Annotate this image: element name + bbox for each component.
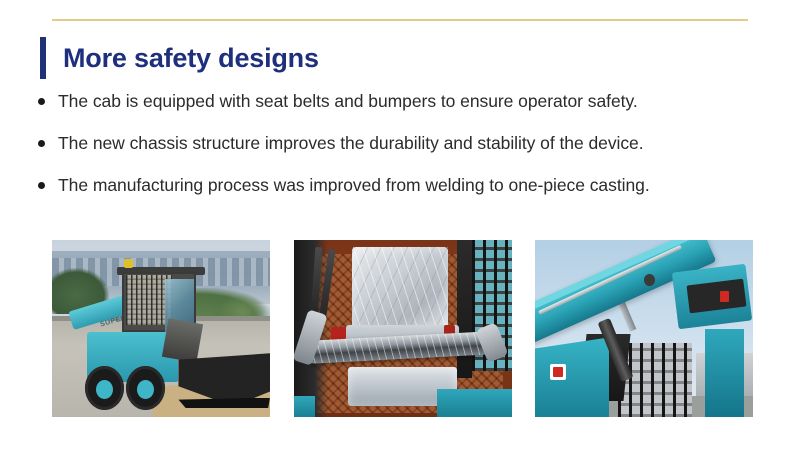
- bullet-text: The new chassis structure improves the d…: [58, 130, 644, 156]
- list-item: The manufacturing process was improved f…: [38, 172, 790, 214]
- bullet-text: The cab is equipped with seat belts and …: [58, 88, 638, 114]
- teal-panel-bottom-right: [437, 389, 511, 417]
- bullet-dot-icon: [38, 98, 45, 105]
- seat-plastic-wrap: [352, 247, 448, 332]
- boom-mount-plate: [535, 337, 609, 417]
- hydraulic-lift-assembly: [162, 319, 203, 363]
- photo-skid-steer-loader-full-view: SUPER: [52, 240, 270, 417]
- slide-canvas: More safety designs The cab is equipped …: [0, 0, 800, 450]
- warning-beacon-icon: [124, 259, 133, 268]
- bullet-dot-icon: [38, 140, 45, 147]
- photo-cab-interior-wrapped-seat: [294, 240, 512, 417]
- bullet-text: The manufacturing process was improved f…: [58, 172, 650, 198]
- warning-sticker-secondary-icon: [720, 291, 729, 302]
- boom-pivot-joint: [644, 274, 655, 286]
- photo-loader-boom-arm-closeup: [535, 240, 753, 417]
- list-item: The new chassis structure improves the d…: [38, 130, 790, 172]
- photo-gallery: SUPER: [52, 240, 753, 417]
- machine-body-right: [705, 329, 744, 418]
- rear-mesh-grille: [618, 343, 692, 417]
- gold-divider-rule: [52, 19, 748, 21]
- bullet-dot-icon: [38, 182, 45, 189]
- slide-title-block: More safety designs: [40, 36, 319, 80]
- warning-sticker-icon: [550, 364, 565, 380]
- bullet-list: The cab is equipped with seat belts and …: [38, 88, 790, 214]
- cab-frame-post: [457, 240, 472, 378]
- teal-panel-bottom-left: [294, 396, 316, 417]
- title-accent-bar: [40, 37, 46, 79]
- list-item: The cab is equipped with seat belts and …: [38, 88, 790, 130]
- page-title: More safety designs: [63, 45, 319, 72]
